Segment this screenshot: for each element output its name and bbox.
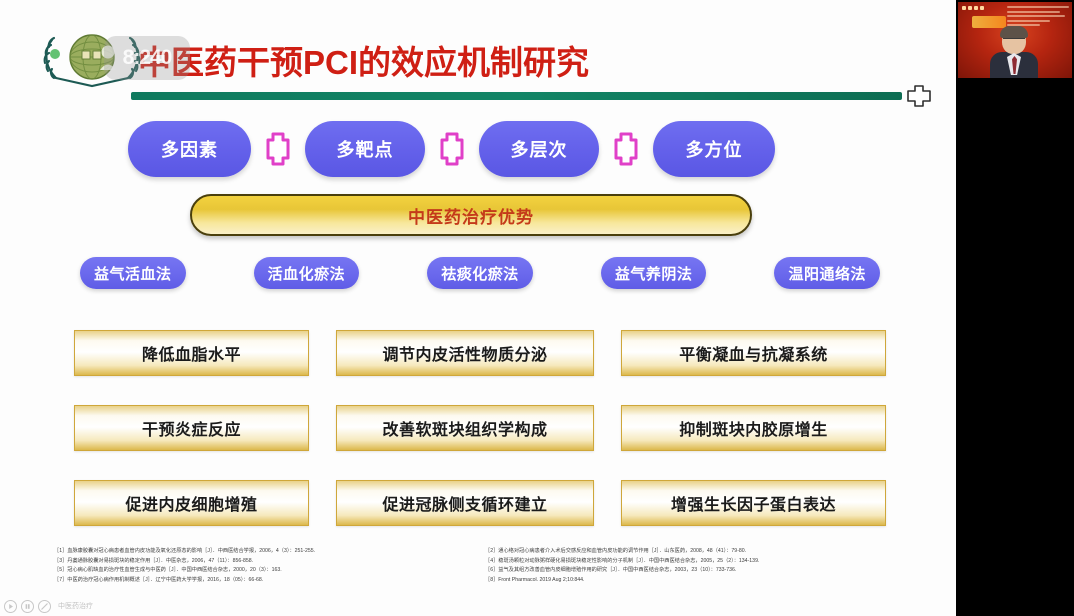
speaker-video-thumbnail[interactable] [958,2,1072,78]
advantage-banner[interactable]: 中医药治疗优势 [190,194,752,236]
play-circle-icon[interactable] [4,600,17,613]
effects-grid: 降低血脂水平 调节内皮活性物质分泌 平衡凝血与抗凝系统 干预炎症反应 改善软斑块… [74,330,886,530]
dimensions-row: 多因素 多靶点 多层次 [128,118,842,180]
pause-circle-icon[interactable] [21,600,34,613]
reference-line: ［3］丹蒌通脉胶囊对易损斑块的稳定作用［J］．中医杂志，2006，47（11）：… [54,557,463,567]
therapy-pill-5[interactable]: 温阳通络法 [774,257,880,289]
effect-label-2-1: 干预炎症反应 [142,416,241,440]
stop-circle-icon[interactable] [38,600,51,613]
reference-line: ［4］稳斑汤颗粒对动脉粥样硬化易损斑块稳定性影响的分子机制［J］．中国中西医结合… [485,557,894,567]
effects-row-3: 促进内皮细胞增殖 促进冠脉侧支循环建立 增强生长因子蛋白表达 [74,480,886,526]
reference-line: ［8］Front Pharmacol. 2019 Aug 2;10:844. [485,576,894,586]
screen-root: 中医药干预PCI的效应机制研究 8:240 多因素 多靶点 [0,0,1074,616]
video-overlay-logo [972,16,1006,28]
effects-row-1: 降低血脂水平 调节内皮活性物质分泌 平衡凝血与抗凝系统 [74,330,886,376]
cross-node-icon [907,85,931,107]
therapy-label-3: 祛痰化瘀法 [441,263,519,284]
dimension-label-1: 多因素 [161,136,218,162]
effect-box-1-3[interactable]: 平衡凝血与抗凝系统 [621,330,886,376]
reference-line: ［5］冠心病心肌缺血的治疗性血管生成与中医药［J］．中国中西医结合杂志，2000… [54,566,463,576]
therapy-pill-3[interactable]: 祛痰化瘀法 [427,257,533,289]
dimension-label-2: 多靶点 [337,136,394,162]
effect-box-2-1[interactable]: 干预炎症反应 [74,405,309,451]
effect-box-2-3[interactable]: 抑制斑块内胶原增生 [621,405,886,451]
effect-label-1-1: 降低血脂水平 [142,341,241,365]
reference-line: ［6］益气及其组方改善血管内皮细胞增殖作用的研究［J］．中国中西医结合杂志，20… [485,566,894,576]
effect-box-1-1[interactable]: 降低血脂水平 [74,330,309,376]
advantage-banner-label: 中医药治疗优势 [408,203,534,228]
slide-title: 中医药干预PCI的效应机制研究 [138,36,589,84]
effect-label-1-2: 调节内皮活性物质分泌 [382,341,547,365]
presentation-slide: 中医药干预PCI的效应机制研究 8:240 多因素 多靶点 [0,0,956,616]
dimension-capsule-3[interactable]: 多层次 [479,121,599,177]
effects-row-2: 干预炎症反应 改善软斑块组织学构成 抑制斑块内胶原增生 [74,405,886,451]
overlay-time-badge: 8:240 [104,36,190,80]
effect-box-1-2[interactable]: 调节内皮活性物质分泌 [336,330,594,376]
therapy-row: 益气活血法 活血化瘀法 祛痰化瘀法 益气养阴法 温阳通络法 [80,256,880,290]
reference-line: ［7］中医药治疗冠心病作用机制概述［J］．辽宁中医药大学学报，2016，18（0… [54,576,463,586]
references-left-column: ［1］血脉康胶囊对冠心病患者血管内皮功能及氧化还原态的影响［J］．中西医结合学报… [54,547,463,605]
therapy-label-2: 活血化瘀法 [268,263,346,284]
reference-line: ［2］通心络对冠心病患者介入术后交感反应和血管内皮功能的调节作用［J］．山东医药… [485,547,894,557]
video-overlay-dots [962,6,984,10]
dimension-capsule-4[interactable]: 多方位 [653,121,775,177]
reference-line: ［1］血脉康胶囊对冠心病患者血管内皮功能及氧化还原态的影响［J］．中西医结合学报… [54,547,463,557]
therapy-label-4: 益气养阴法 [615,263,693,284]
therapy-pill-1[interactable]: 益气活血法 [80,257,186,289]
effect-label-1-3: 平衡凝血与抗凝系统 [679,341,828,365]
dimension-capsule-1[interactable]: 多因素 [128,121,251,177]
effect-box-2-2[interactable]: 改善软斑块组织学构成 [336,405,594,451]
header-divider [131,92,902,100]
player-controls[interactable]: 中医药治疗 [4,598,93,614]
references-right-column: ［2］通心络对冠心病患者介入术后交感反应和血管内皮功能的调节作用［J］．山东医药… [485,547,894,605]
therapy-label-5: 温阳通络法 [788,263,866,284]
effect-label-2-2: 改善软斑块组织学构成 [382,416,547,440]
dimension-label-4: 多方位 [686,136,743,162]
therapy-pill-4[interactable]: 益气养阴法 [601,257,707,289]
effect-box-3-1[interactable]: 促进内皮细胞增殖 [74,480,309,526]
effect-label-3-1: 促进内皮细胞增殖 [125,491,257,515]
dimension-capsule-2[interactable]: 多靶点 [305,121,425,177]
link-node-icon-1 [263,132,293,166]
references: ［1］血脉康胶囊对冠心病患者血管内皮功能及氧化还原态的影响［J］．中西医结合学报… [54,547,894,605]
therapy-label-1: 益气活血法 [94,263,172,284]
dimension-label-3: 多层次 [511,136,568,162]
effect-box-3-3[interactable]: 增强生长因子蛋白表达 [621,480,886,526]
effect-label-3-2: 促进冠脉侧支循环建立 [382,491,547,515]
link-node-icon-3 [611,132,641,166]
link-node-icon-2 [437,132,467,166]
effect-label-2-3: 抑制斑块内胶原增生 [679,416,828,440]
effect-box-3-2[interactable]: 促进冠脉侧支循环建立 [336,480,594,526]
speaker-figure [990,28,1038,78]
video-panel [956,0,1074,616]
therapy-pill-2[interactable]: 活血化瘀法 [254,257,360,289]
effect-label-3-3: 增强生长因子蛋白表达 [671,491,836,515]
player-status-text: 中医药治疗 [58,601,93,611]
